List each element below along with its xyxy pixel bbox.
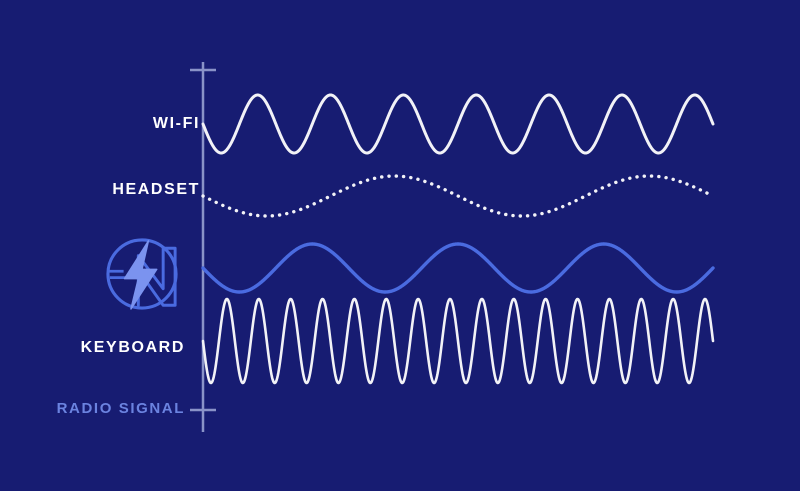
waveform-group [203,95,713,383]
signal-diagram-canvas: WI-FI HEADSET KEYBOARD RADIO SIGNAL [0,0,800,491]
logo-lightning-bolt-icon [125,241,157,309]
waveform-headset [203,176,713,216]
waveform-wi-fi [203,95,713,153]
label-keyboard: KEYBOARD [81,340,185,356]
waveform-radio-signal [203,244,713,292]
label-headset: HEADSET [112,182,200,198]
waveform-keyboard [203,299,713,383]
label-wifi: WI-FI [153,116,200,132]
label-radio-signal: RADIO SIGNAL [57,401,185,416]
radio-signal-logo-icon [96,228,188,320]
